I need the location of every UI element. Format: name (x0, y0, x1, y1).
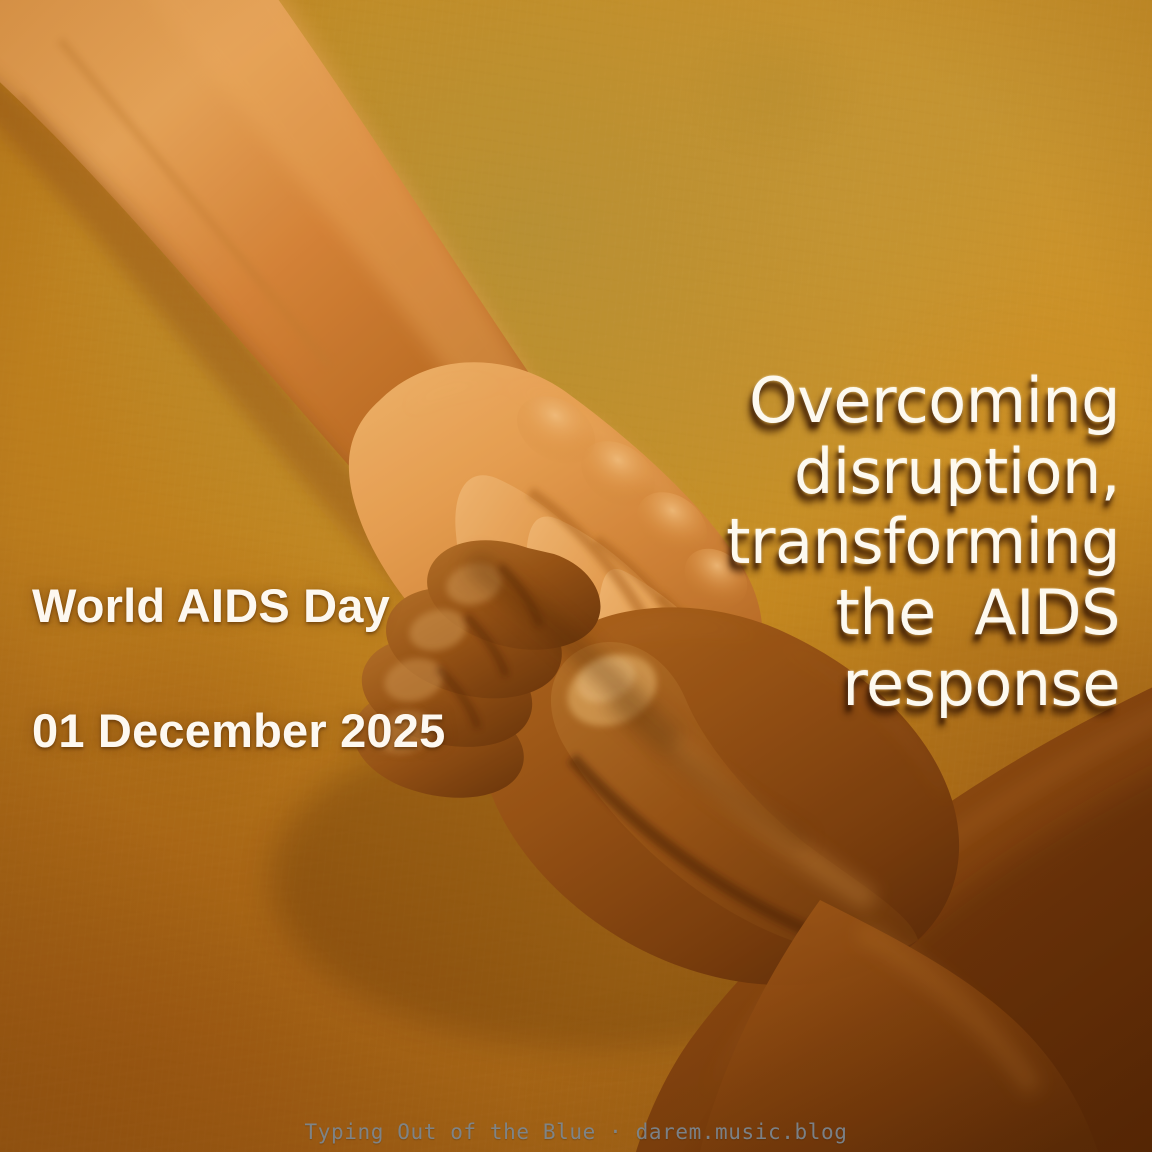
world-aids-day-poster: World AIDS Day 01 December 2025 Overcomi… (0, 0, 1152, 1152)
title-block: World AIDS Day 01 December 2025 (32, 512, 652, 825)
title-line-date: 01 December 2025 (32, 700, 652, 763)
headline-line-5: response (650, 649, 1120, 720)
theme-headline: Overcoming disruption, transforming the … (650, 366, 1120, 719)
headline-line-4: the AIDS (650, 578, 1120, 649)
headline-line-2: disruption, (650, 437, 1120, 508)
headline-line-1: Overcoming (650, 366, 1120, 437)
headline-line-3: transforming (650, 507, 1120, 578)
footer-credit: Typing Out of the Blue · darem.music.blo… (0, 1120, 1152, 1144)
title-line-event: World AIDS Day (32, 575, 652, 638)
